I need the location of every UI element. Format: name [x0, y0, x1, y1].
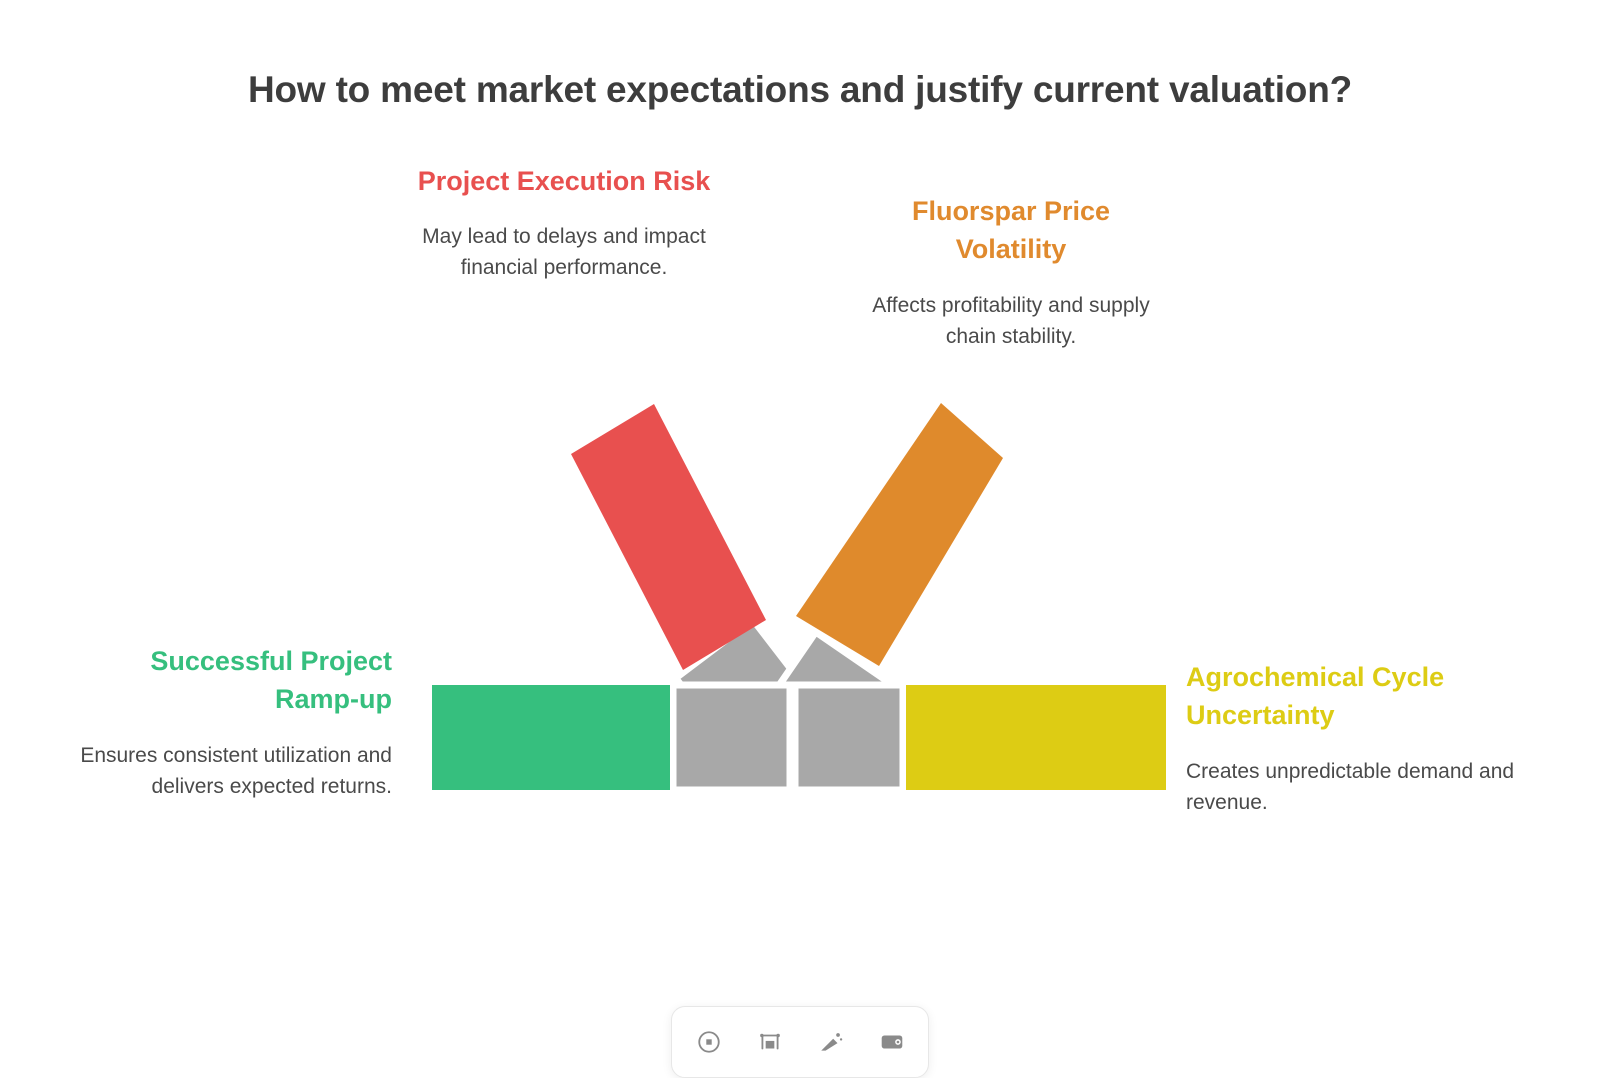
- page-title: How to meet market expectations and just…: [0, 68, 1600, 112]
- callout-description-green: Ensures consistent utilization and deliv…: [80, 741, 392, 803]
- callout-fluorspar-price-volatility: Fluorspar Price Volatility Affects profi…: [855, 192, 1167, 352]
- floating-toolbar[interactable]: [671, 1006, 929, 1078]
- callout-agrochemical-cycle-uncertainty: Agrochemical Cycle Uncertainty Creates u…: [1186, 658, 1516, 818]
- callout-project-execution-risk: Project Execution Risk May lead to delay…: [408, 162, 720, 284]
- callout-successful-project-ramp-up: Successful Project Ramp-up Ensures consi…: [80, 642, 392, 802]
- arm-bar-yellow: [906, 685, 1166, 790]
- arm-project-execution-risk: [571, 404, 818, 761]
- arm-fluorspar-price-volatility: [756, 403, 1003, 773]
- arm-successful-project-ramp-up: [432, 685, 790, 790]
- callout-title-yellow: Agrochemical Cycle Uncertainty: [1186, 658, 1516, 735]
- image-card-icon: [879, 1029, 905, 1055]
- callout-title-green: Successful Project Ramp-up: [80, 642, 392, 719]
- arm-base-square-yellow: [795, 685, 903, 790]
- magic-wand-icon-button[interactable]: [808, 1019, 854, 1065]
- info-circle-icon: [696, 1029, 722, 1055]
- arm-bar-red: [571, 404, 766, 670]
- callout-description-yellow: Creates unpredictable demand and revenue…: [1186, 757, 1516, 819]
- arm-agrochemical-cycle-uncertainty: [795, 685, 1166, 790]
- info-circle-icon-button[interactable]: [686, 1019, 732, 1065]
- callout-title-orange: Fluorspar Price Volatility: [855, 192, 1167, 269]
- arm-bar-green: [432, 685, 670, 790]
- arm-bar-orange: [796, 403, 1003, 666]
- callout-description-orange: Affects profitability and supply chain s…: [855, 291, 1167, 353]
- four-arm-factor-diagram: [0, 0, 1600, 1044]
- frame-crop-icon: [757, 1029, 783, 1055]
- arm-base-square-green: [673, 685, 790, 790]
- image-card-icon-button[interactable]: [869, 1019, 915, 1065]
- callout-title-red: Project Execution Risk: [408, 162, 720, 200]
- frame-crop-icon-button[interactable]: [747, 1019, 793, 1065]
- callout-description-red: May lead to delays and impact financial …: [408, 222, 720, 284]
- magic-wand-icon: [818, 1029, 844, 1055]
- arm-base-square-orange: [756, 628, 900, 772]
- arm-base-square-red: [670, 614, 817, 760]
